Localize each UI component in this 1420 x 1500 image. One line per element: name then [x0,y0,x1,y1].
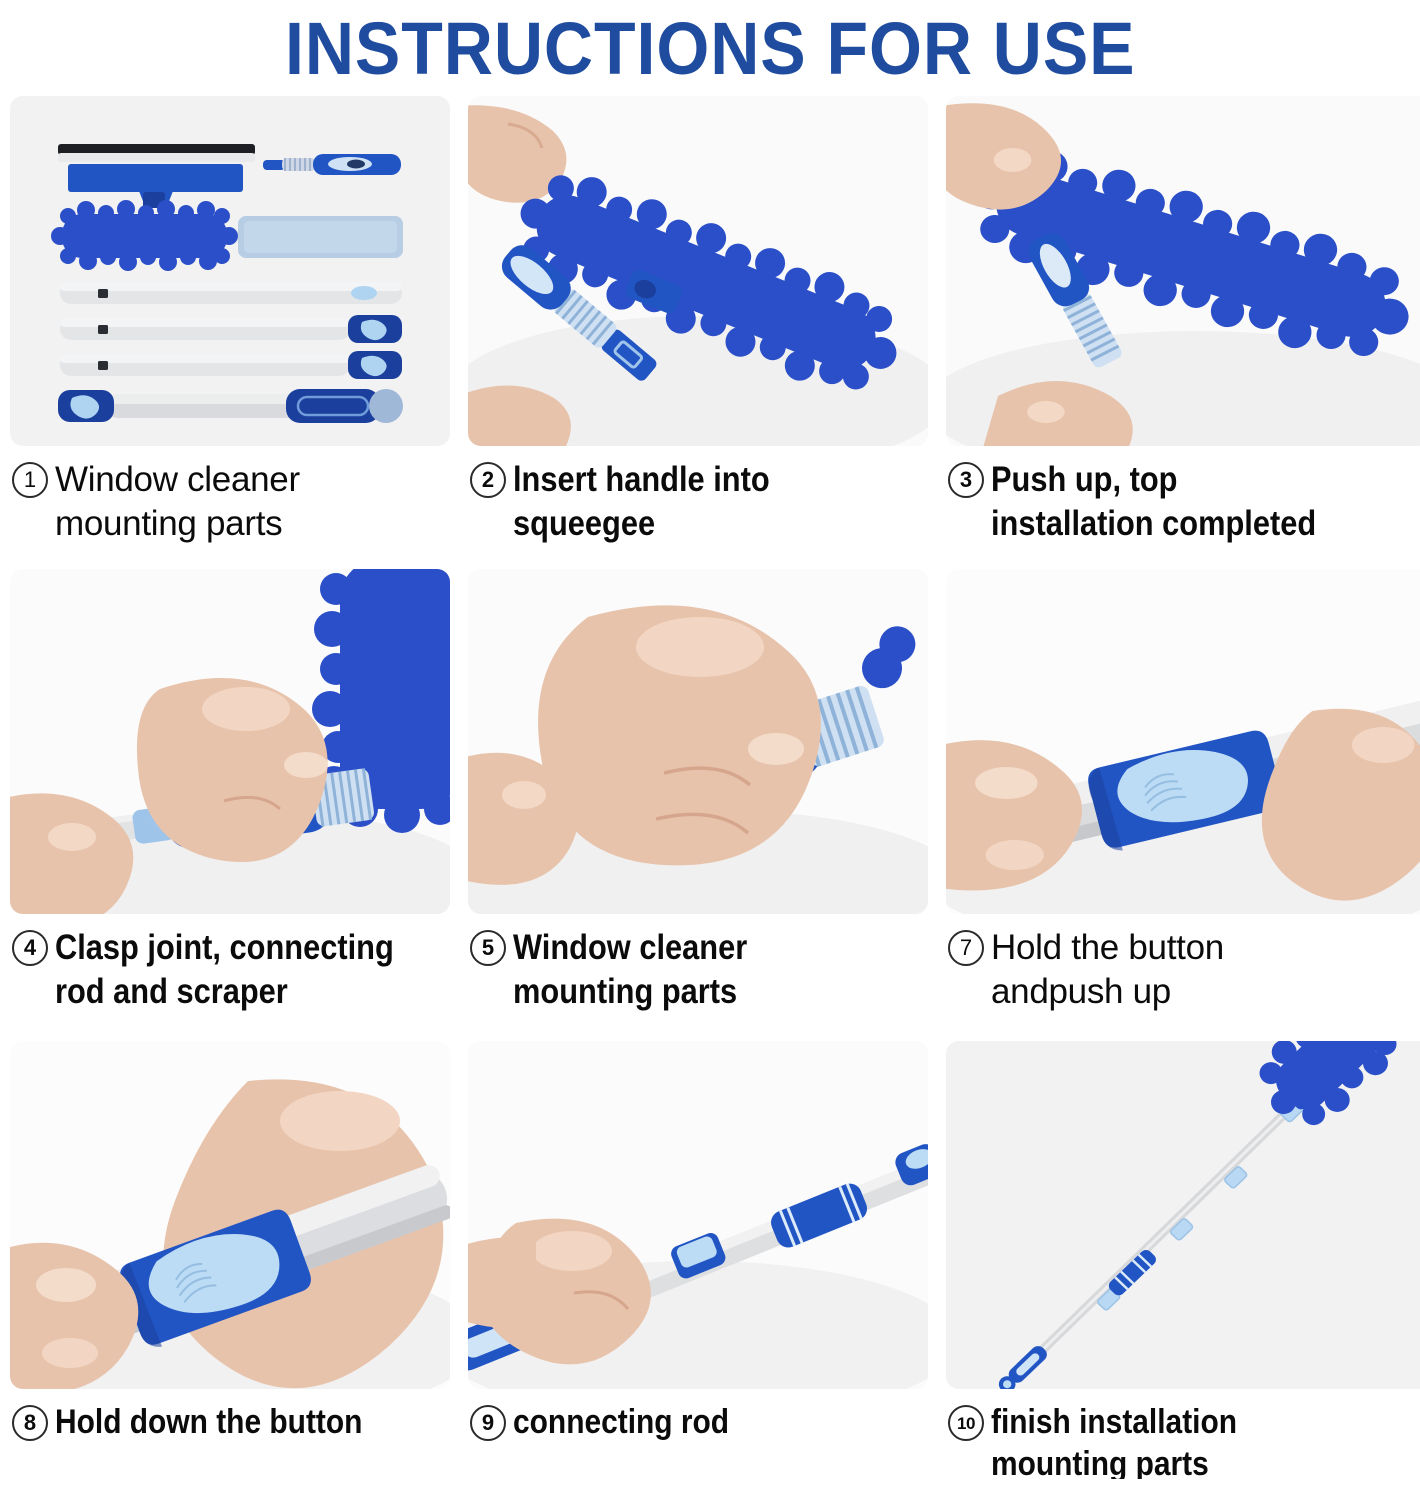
step-caption-text-3: Push up, top installation completed [991,458,1316,546]
step-image-10 [946,1041,1420,1389]
handle-closeup-illustration [468,569,928,914]
step-card-2: 2 lnsert handle into squeegee [468,96,946,569]
step-caption-3: 3 Push up, top installation completed [946,458,1420,546]
step-image-1 [10,96,450,446]
step-card-4: 4 Clasp joint, connecting rod and scrape… [10,569,468,1041]
step-image-5 [468,569,928,914]
step-image-4 [10,569,450,914]
insert-handle-illustration [468,96,928,446]
step-number-badge-4: 4 [12,930,48,966]
step-card-3: 3 Push up, top installation completed [946,96,1420,569]
step-caption-1: 1 Window cleaner mounting parts [10,458,450,546]
step-number-badge-7: 7 [948,930,984,966]
page-title-bar: INSTRUCTIONS FOR USE [0,0,1420,96]
step-number-badge-8: 8 [12,1405,48,1441]
connecting-rod-illustration [468,1041,928,1389]
step-caption-10: 10 finish installation mounting parts [946,1401,1420,1479]
instruction-sheet: INSTRUCTIONS FOR USE [0,0,1420,1500]
step-caption-7: 7 Hold the button andpush up [946,926,1420,1014]
step-caption-text-5: Window cleaner mounting parts [513,926,747,1014]
step-caption-2: 2 lnsert handle into squeegee [468,458,928,546]
parts-layout-illustration [10,96,450,446]
step-number-badge-3: 3 [948,462,984,498]
step-caption-text-1: Window cleaner mounting parts [55,458,300,546]
step-card-1: 1 Window cleaner mounting parts [10,96,468,569]
step-caption-9: 9 connecting rod [468,1401,928,1443]
clasp-joint-illustration [10,569,450,914]
step-image-7 [946,569,1420,914]
step-number-badge-10: 10 [948,1405,984,1441]
step-caption-text-9: connecting rod [513,1401,729,1443]
step-caption-text-8: Hold down the button [55,1401,362,1443]
step-caption-text-10: finish installation mounting parts [991,1401,1237,1479]
step-number-badge-5: 5 [470,930,506,966]
step-caption-4: 4 Clasp joint, connecting rod and scrape… [10,926,450,1014]
push-up-complete-illustration [946,96,1420,446]
hold-button-push-illustration [946,569,1420,914]
page-title: INSTRUCTIONS FOR USE [285,10,1136,88]
step-card-5: 5 Window cleaner mounting parts [468,569,946,1041]
finished-product-illustration [946,1041,1420,1389]
step-image-8 [10,1041,450,1389]
step-card-7: 7 Hold the button andpush up [946,569,1420,1041]
step-caption-text-7: Hold the button andpush up [991,926,1224,1014]
step-number-badge-9: 9 [470,1405,506,1441]
hold-down-button-illustration [10,1041,450,1389]
step-image-9 [468,1041,928,1389]
step-card-8: 8 Hold down the button [10,1041,468,1461]
step-card-10: 10 finish installation mounting parts [946,1041,1420,1461]
step-caption-8: 8 Hold down the button [10,1401,450,1443]
step-caption-text-2: lnsert handle into squeegee [513,458,770,546]
step-caption-5: 5 Window cleaner mounting parts [468,926,928,1014]
step-card-9: 9 connecting rod [468,1041,946,1461]
step-image-2 [468,96,928,446]
step-caption-text-4: Clasp joint, connecting rod and scraper [55,926,394,1014]
step-number-badge-1: 1 [12,462,48,498]
step-image-3 [946,96,1420,446]
steps-grid: 1 Window cleaner mounting parts [0,96,1420,1461]
step-number-badge-2: 2 [470,462,506,498]
